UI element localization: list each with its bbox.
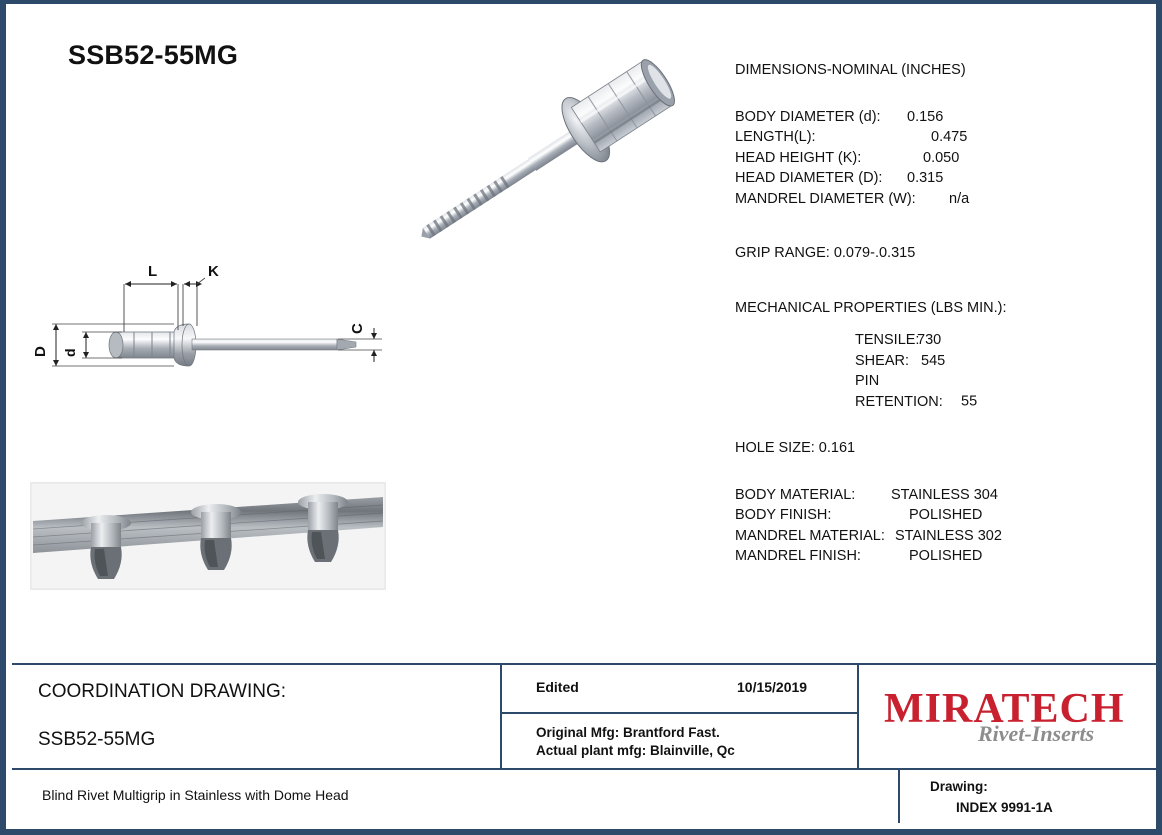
dim-label-d: d <box>62 348 78 357</box>
spec-row-mandrel-finish: MANDREL FINISH:POLISHED <box>735 546 1135 567</box>
spec-value: POLISHED <box>909 507 982 523</box>
edited-date: 10/15/2019 <box>737 679 807 695</box>
spec-row-body-material: BODY MATERIAL:STAINLESS 304 <box>735 485 1135 506</box>
dim-label-C: C <box>349 323 366 334</box>
spec-value: POLISHED <box>909 548 982 564</box>
spec-value: 730 <box>917 332 941 348</box>
spec-label: TENSILE: <box>855 330 917 351</box>
spec-value: 0.315 <box>907 170 943 186</box>
rivet-photo-3d <box>398 44 698 269</box>
spec-row-shear: SHEAR:545 <box>735 351 1135 372</box>
spec-label: MANDREL FINISH: <box>735 546 909 567</box>
dimensions-heading: DIMENSIONS-NOMINAL (INCHES) <box>735 60 1135 81</box>
spec-row-mandrel-diameter: MANDREL DIAMETER (W):n/a <box>735 189 1135 210</box>
original-mfg: Original Mfg: Brantford Fast. <box>536 725 720 740</box>
spec-label: SHEAR: <box>855 351 921 372</box>
dimension-diagram-svg: L K D d <box>26 256 401 381</box>
dim-label-K: K <box>208 263 219 280</box>
spec-label: HEAD HEIGHT (K): <box>735 148 923 169</box>
mechanical-heading: MECHANICAL PROPERTIES (LBS MIN.): <box>735 298 1135 319</box>
title-block-mid-rule <box>12 768 1162 770</box>
title-block: COORDINATION DRAWING: SSB52-55MG Blind R… <box>12 663 1162 823</box>
spec-value: 0.156 <box>907 109 943 125</box>
title-block-divider-2 <box>857 663 859 770</box>
spec-label: MANDREL DIAMETER (W): <box>735 189 949 210</box>
title-block-divider-1 <box>500 663 502 770</box>
spec-value: STAINLESS 302 <box>895 528 1002 544</box>
spec-label: PIN RETENTION: <box>855 371 961 412</box>
spec-label: MANDREL MATERIAL: <box>735 526 895 547</box>
installed-rivets-svg <box>31 483 385 589</box>
spec-value: 0.050 <box>923 150 959 166</box>
spec-label: BODY FINISH: <box>735 505 909 526</box>
spec-row-body-diameter: BODY DIAMETER (d):0.156 <box>735 107 1135 128</box>
spec-label: HEAD DIAMETER (D): <box>735 168 907 189</box>
edited-label: Edited <box>536 679 579 695</box>
spec-label: LENGTH(L): <box>735 127 931 148</box>
spec-label: BODY DIAMETER (d): <box>735 107 907 128</box>
coordination-drawing-label: COORDINATION DRAWING: <box>38 681 286 703</box>
spec-row-tensile: TENSILE:730 <box>735 330 1135 351</box>
miratech-logo: MIRATECH Rivet-Inserts <box>876 683 1156 753</box>
hole-size: HOLE SIZE: 0.161 <box>735 438 1135 459</box>
spec-row-head-diameter: HEAD DIAMETER (D):0.315 <box>735 168 1135 189</box>
title-block-divider-3 <box>898 768 900 823</box>
spec-row-pin-retention: PIN RETENTION:55 <box>735 371 1135 412</box>
actual-plant-mfg: Actual plant mfg: Blainville, Qc <box>536 743 735 758</box>
dimension-diagram: L K D d <box>26 256 401 381</box>
specifications-panel: DIMENSIONS-NOMINAL (INCHES) BODY DIAMETE… <box>735 60 1135 567</box>
spec-value: 55 <box>961 394 977 410</box>
installed-rivets-photo <box>30 482 386 590</box>
drawing-label: Drawing: <box>930 779 988 794</box>
dim-label-D: D <box>32 346 49 357</box>
spec-value: n/a <box>949 191 969 207</box>
logo-tagline: Rivet-Inserts <box>978 721 1094 747</box>
edited-row-rule <box>500 712 857 714</box>
dim-label-L: L <box>148 263 157 280</box>
drawing-sheet: SSB52-55MG <box>0 0 1162 835</box>
part-description: Blind Rivet Multigrip in Stainless with … <box>42 787 349 803</box>
spec-label: BODY MATERIAL: <box>735 485 891 506</box>
rivet-photo-svg <box>398 44 698 269</box>
drawing-index: INDEX 9991-1A <box>956 800 1053 815</box>
spec-value: 0.475 <box>931 129 967 145</box>
spec-row-mandrel-material: MANDREL MATERIAL:STAINLESS 302 <box>735 526 1135 547</box>
spec-row-head-height: HEAD HEIGHT (K):0.050 <box>735 148 1135 169</box>
title-block-top-rule <box>12 663 1162 665</box>
page-title: SSB52-55MG <box>68 40 238 71</box>
title-block-part-number: SSB52-55MG <box>38 729 155 751</box>
spec-row-length: LENGTH(L):0.475 <box>735 127 1135 148</box>
spec-value: 545 <box>921 353 945 369</box>
spec-value: STAINLESS 304 <box>891 487 998 503</box>
grip-range: GRIP RANGE: 0.079-.0.315 <box>735 243 1135 264</box>
spec-row-body-finish: BODY FINISH:POLISHED <box>735 505 1135 526</box>
